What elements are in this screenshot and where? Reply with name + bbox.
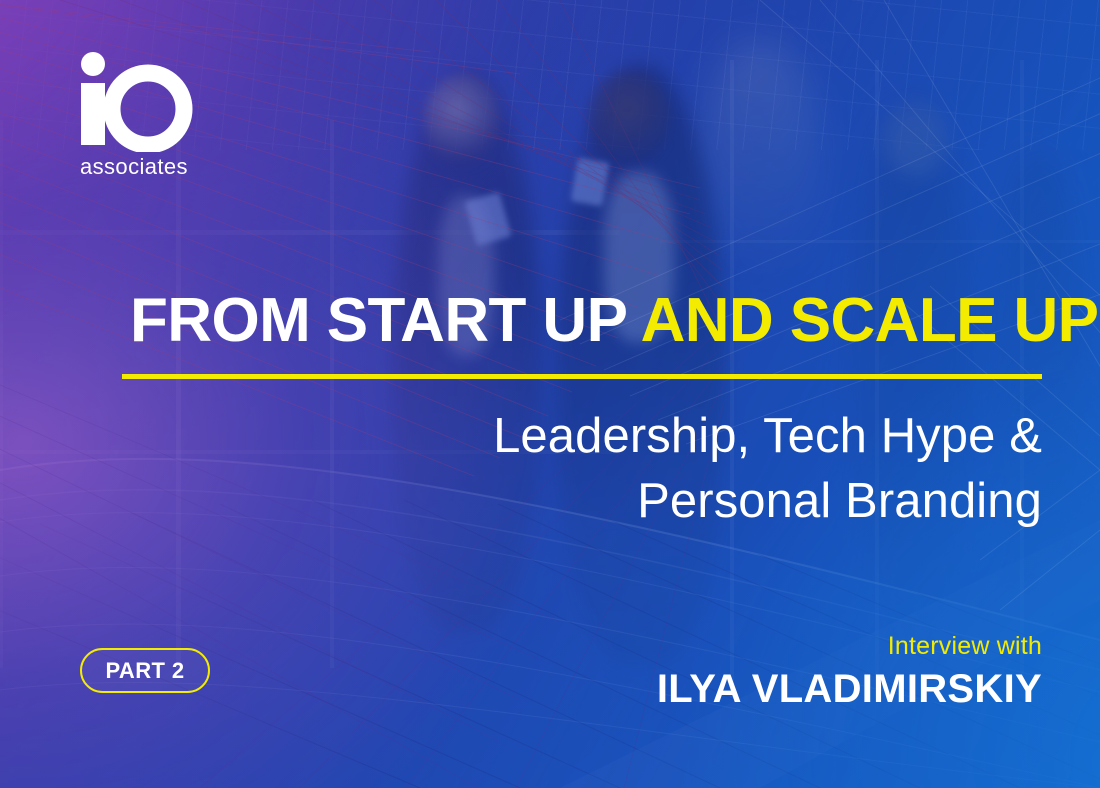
interview-label: Interview with (657, 633, 1042, 661)
page-title: FROM START UP AND SCALE UP (130, 290, 1046, 352)
headline-white-part: FROM START UP (130, 286, 641, 355)
logo-wordmark: associates (80, 156, 218, 178)
logo[interactable]: associates (78, 52, 218, 178)
interview-credit: Interview with ILYA VLADIMIRSKIY (657, 633, 1042, 711)
subtitle-line-2: Personal Branding (282, 469, 1042, 534)
part-badge-label: PART 2 (105, 658, 184, 684)
promo-banner: associates FROM START UP AND SCALE UP Le… (0, 0, 1100, 788)
content-layer: associates FROM START UP AND SCALE UP Le… (0, 0, 1100, 788)
subtitle-line-1: Leadership, Tech Hype & (282, 404, 1042, 469)
io-associates-logo-icon (78, 52, 196, 152)
interview-guest-name: ILYA VLADIMIRSKIY (657, 668, 1042, 710)
page-subtitle: Leadership, Tech Hype & Personal Brandin… (282, 404, 1042, 533)
headline-yellow-part: AND SCALE UP (641, 286, 1099, 355)
title-divider-rule (122, 374, 1042, 379)
status-badge: PART 2 (80, 648, 210, 693)
